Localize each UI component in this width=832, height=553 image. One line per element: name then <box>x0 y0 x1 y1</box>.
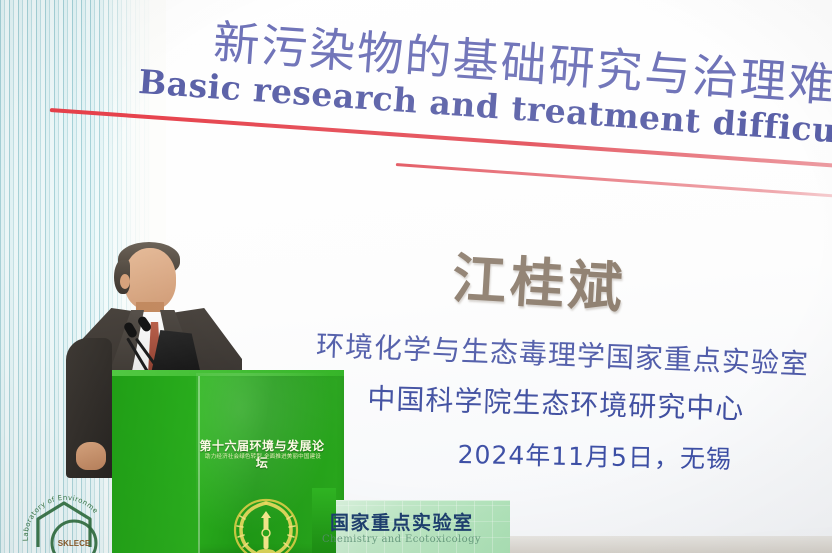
lab-logo-arc-text: Laboratory of Environmental <box>18 485 100 541</box>
lab-sign-title-english: Chemistry and Ecotoxicology <box>322 534 481 545</box>
state-key-laboratory-logo-icon: Laboratory of Environmental SKLECE <box>18 485 114 553</box>
conference-photo: 新污染物的基础研究与治理难点 Basic research and treatm… <box>0 0 832 553</box>
lab-logo-acronym: SKLECE <box>58 539 91 548</box>
lab-sign-title-chinese: 国家重点实验室 <box>330 508 474 535</box>
svg-text:Laboratory of Environmental: Laboratory of Environmental <box>18 485 100 541</box>
lab-sign-group: 国家重点实验室 Chemistry and Ecotoxicology <box>0 0 832 553</box>
